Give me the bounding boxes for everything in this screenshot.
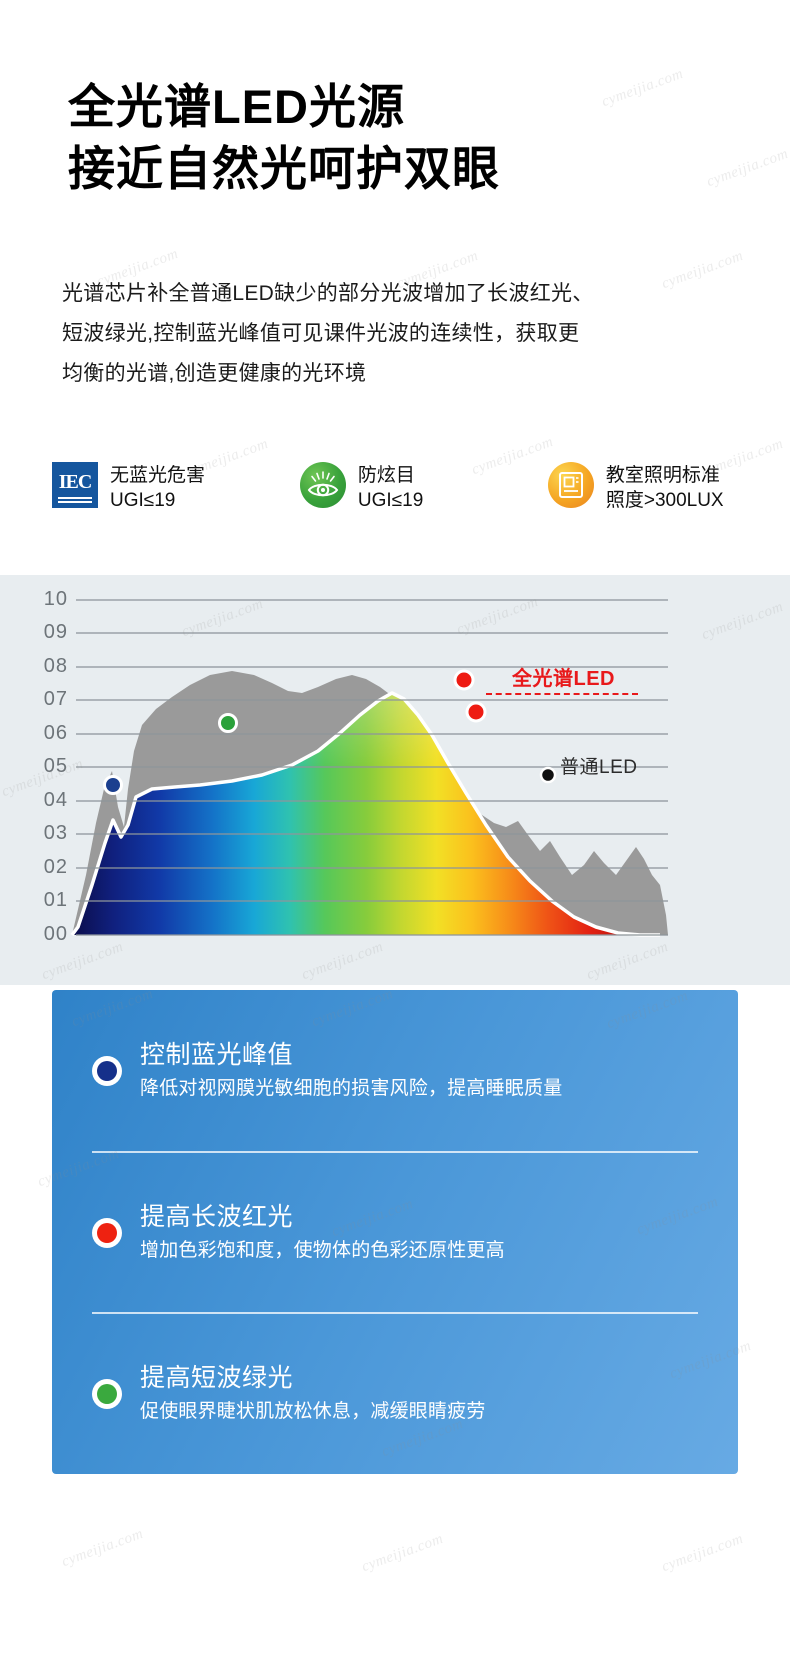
red-dot-icon — [92, 1218, 122, 1248]
header-section: 全光谱LED光源 接近自然光呵护双眼 光谱芯片补全普通LED缺少的部分光波增加了… — [0, 0, 790, 575]
benefit-desc-1: 降低对视网膜光敏细胞的损害风险，提高睡眠质量 — [140, 1073, 562, 1105]
intro-line-1: 光谱芯片补全普通LED缺少的部分光波增加了长波红光、 — [62, 274, 662, 314]
legend-full-spectrum-led: 全光谱LED — [512, 662, 615, 691]
y-tick-08: 08 — [28, 655, 68, 678]
anti-glare-eye-icon — [300, 462, 346, 508]
badge-sub-3: 照度>300LUX — [606, 488, 724, 513]
watermark: cymeijia.com — [660, 1531, 746, 1576]
iec-icon-label: IEC — [59, 471, 92, 494]
intro-line-2: 短波绿光,控制蓝光峰值可见课件光波的连续性，获取更 — [62, 314, 662, 354]
y-tick-09: 09 — [28, 621, 68, 644]
badge-title-3: 教室照明标准 — [606, 463, 724, 488]
y-tick-05: 05 — [28, 755, 68, 778]
spectrum-chart-canvas — [0, 575, 790, 985]
classroom-lighting-standard-icon — [548, 462, 594, 508]
y-tick-06: 06 — [28, 722, 68, 745]
watermark: cymeijia.com — [660, 248, 746, 293]
badge-sub-1: UGI≤19 — [110, 488, 205, 513]
watermark: cymeijia.com — [360, 1531, 446, 1576]
page-title: 全光谱LED光源 接近自然光呵护双眼 — [68, 76, 500, 200]
watermark: cymeijia.com — [705, 146, 790, 191]
green-dot-icon — [92, 1379, 122, 1409]
title-line-2: 接近自然光呵护双眼 — [68, 138, 500, 200]
spectrum-chart: 10 09 08 07 06 05 04 03 02 01 00 全光谱LED … — [0, 575, 790, 985]
y-tick-07: 07 — [28, 688, 68, 711]
benefit-item-red-light[interactable]: 提高长波红光 增加色彩饱和度，使物体的色彩还原性更高 — [92, 1151, 698, 1312]
legend-ordinary-led: 普通LED — [560, 752, 637, 779]
y-tick-00: 00 — [28, 923, 68, 946]
legend-full-spectrum-dashed-line — [486, 693, 638, 695]
red-upper-marker — [455, 671, 473, 689]
watermark: cymeijia.com — [60, 1526, 146, 1571]
benefit-desc-2: 增加色彩饱和度，使物体的色彩还原性更高 — [140, 1235, 505, 1267]
badge-no-blue-light-hazard: IEC 无蓝光危害 UGI≤19 — [52, 462, 300, 513]
intro-paragraph: 光谱芯片补全普通LED缺少的部分光波增加了长波红光、 短波绿光,控制蓝光峰值可见… — [62, 274, 662, 394]
page-root: 全光谱LED光源 接近自然光呵护双眼 光谱芯片补全普通LED缺少的部分光波增加了… — [0, 0, 790, 1663]
y-tick-04: 04 — [28, 789, 68, 812]
red-lower-marker — [467, 703, 485, 721]
badge-sub-2: UGI≤19 — [358, 488, 423, 513]
badge-anti-glare: 防炫目 UGI≤19 — [300, 462, 548, 513]
watermark: cymeijia.com — [600, 66, 686, 111]
badge-row: IEC 无蓝光危害 UGI≤19 — [52, 462, 752, 513]
blue-dot-icon — [92, 1056, 122, 1086]
green-marker — [220, 715, 237, 732]
benefits-panel: 控制蓝光峰值 降低对视网膜光敏细胞的损害风险，提高睡眠质量 提高长波红光 增加色… — [52, 990, 738, 1474]
iec-certification-icon: IEC — [52, 462, 98, 508]
benefit-title-3: 提高短波绿光 — [140, 1360, 486, 1396]
benefit-item-blue-peak[interactable]: 控制蓝光峰值 降低对视网膜光敏细胞的损害风险，提高睡眠质量 — [92, 990, 698, 1151]
benefit-item-green-light[interactable]: 提高短波绿光 促使眼界睫状肌放松休息，减缓眼睛疲劳 — [92, 1312, 698, 1473]
badge-classroom-standard: 教室照明标准 照度>300LUX — [548, 462, 752, 513]
benefit-title-1: 控制蓝光峰值 — [140, 1037, 562, 1073]
ordinary-led-marker — [541, 768, 555, 782]
y-tick-10: 10 — [28, 588, 68, 611]
blue-peak-marker — [105, 777, 122, 794]
benefit-desc-3: 促使眼界睫状肌放松休息，减缓眼睛疲劳 — [140, 1396, 486, 1428]
benefit-title-2: 提高长波红光 — [140, 1199, 505, 1235]
y-tick-03: 03 — [28, 822, 68, 845]
badge-title-2: 防炫目 — [358, 463, 423, 488]
intro-line-3: 均衡的光谱,创造更健康的光环境 — [62, 354, 662, 394]
badge-title-1: 无蓝光危害 — [110, 463, 205, 488]
y-tick-01: 01 — [28, 889, 68, 912]
title-line-1: 全光谱LED光源 — [68, 76, 500, 138]
y-tick-02: 02 — [28, 856, 68, 879]
